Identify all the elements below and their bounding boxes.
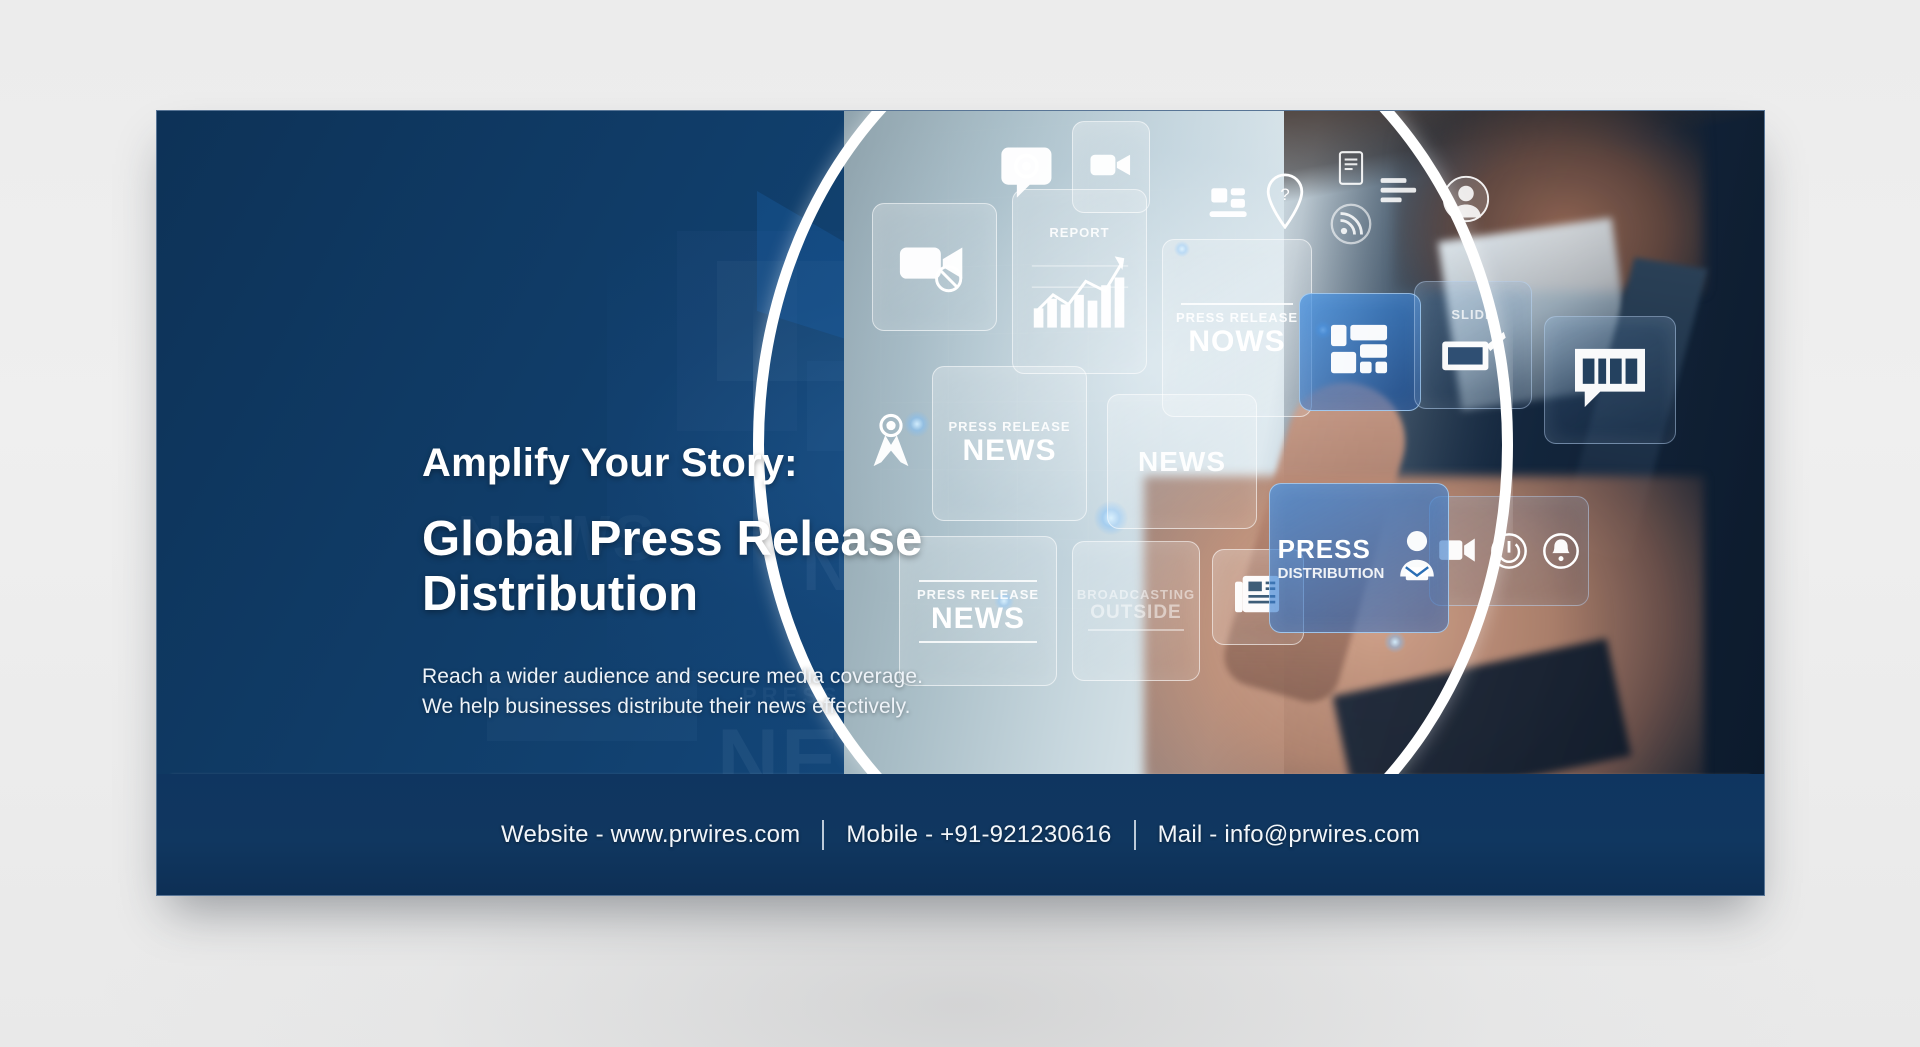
banner-stage: NEWS PRESS RELEASE NEWS NEWS bbox=[157, 111, 1764, 776]
tile-rule bbox=[1181, 303, 1293, 305]
page-background: NEWS PRESS RELEASE NEWS NEWS bbox=[0, 0, 1920, 1047]
video-camera-icon bbox=[1089, 150, 1133, 185]
footer-mobile[interactable]: Mobile - +91-921230616 bbox=[824, 821, 1133, 849]
tile-press-distribution[interactable]: PRESS DISTRIBUTION bbox=[1269, 483, 1449, 633]
contact-list: Website - www.prwires.com Mobile - +91-9… bbox=[479, 820, 1442, 850]
tile-press-release-nows[interactable]: PRESS RELEASE NOWS bbox=[1162, 239, 1312, 417]
envelope-person-icon bbox=[1394, 528, 1440, 589]
tile-layout-grid[interactable] bbox=[1299, 293, 1421, 411]
subcopy-line-2: We help businesses distribute their news… bbox=[422, 692, 1122, 722]
bar-chart-growth-icon bbox=[1028, 248, 1132, 339]
sparkle bbox=[1384, 631, 1406, 653]
page-title: Global Press Release Distribution bbox=[422, 512, 1062, 622]
location-pin-icon: ? bbox=[1264, 173, 1306, 234]
tile-news[interactable]: NEWS bbox=[1107, 394, 1257, 529]
subcopy-block: Reach a wider audience and secure media … bbox=[422, 662, 1122, 722]
tile-label-small: DISTRIBUTION bbox=[1278, 565, 1385, 582]
list-lines-icon bbox=[1379, 173, 1421, 214]
chat-bubble-icon bbox=[1569, 343, 1651, 418]
tile-chat-article[interactable] bbox=[1544, 316, 1676, 444]
svg-text:?: ? bbox=[1280, 185, 1289, 204]
subcopy-line-1: Reach a wider audience and secure media … bbox=[422, 662, 1122, 692]
tile-label-small: PRESS RELEASE bbox=[948, 419, 1070, 434]
marketing-banner: NEWS PRESS RELEASE NEWS NEWS bbox=[156, 110, 1765, 896]
copy-block: Amplify Your Story: Global Press Release… bbox=[422, 441, 1122, 721]
tile-label-small: PRESS RELEASE bbox=[1176, 310, 1298, 325]
layout-grid-icon bbox=[1327, 321, 1393, 384]
contact-footer: Website - www.prwires.com Mobile - +91-9… bbox=[157, 774, 1764, 895]
tile-media-controls[interactable] bbox=[1429, 496, 1589, 606]
presentation-board-icon bbox=[1206, 183, 1252, 234]
video-camera-off-icon bbox=[896, 237, 974, 298]
tile-analytics-report[interactable]: REPORT bbox=[1012, 189, 1147, 374]
tile-label-small: REPORT bbox=[1049, 225, 1109, 240]
footer-mail[interactable]: Mail - info@prwires.com bbox=[1136, 821, 1442, 849]
document-icon bbox=[1336, 149, 1366, 192]
tile-video-off[interactable] bbox=[872, 203, 997, 331]
reporter-avatar-icon bbox=[1442, 175, 1490, 228]
tile-label-large: NEWS bbox=[1138, 446, 1226, 478]
slideshow-icon bbox=[1438, 328, 1508, 383]
footer-website[interactable]: Website - www.prwires.com bbox=[479, 821, 822, 849]
rss-feed-icon bbox=[1330, 203, 1372, 250]
kicker-text: Amplify Your Story: bbox=[422, 441, 1122, 486]
tile-label-large: NOWS bbox=[1188, 325, 1285, 359]
tile-label-large: PRESS bbox=[1278, 534, 1371, 565]
tile-label-small: SLIDE bbox=[1451, 307, 1494, 322]
tile-slideshow[interactable]: SLIDE bbox=[1414, 281, 1532, 409]
power-button-icon bbox=[1437, 531, 1581, 571]
